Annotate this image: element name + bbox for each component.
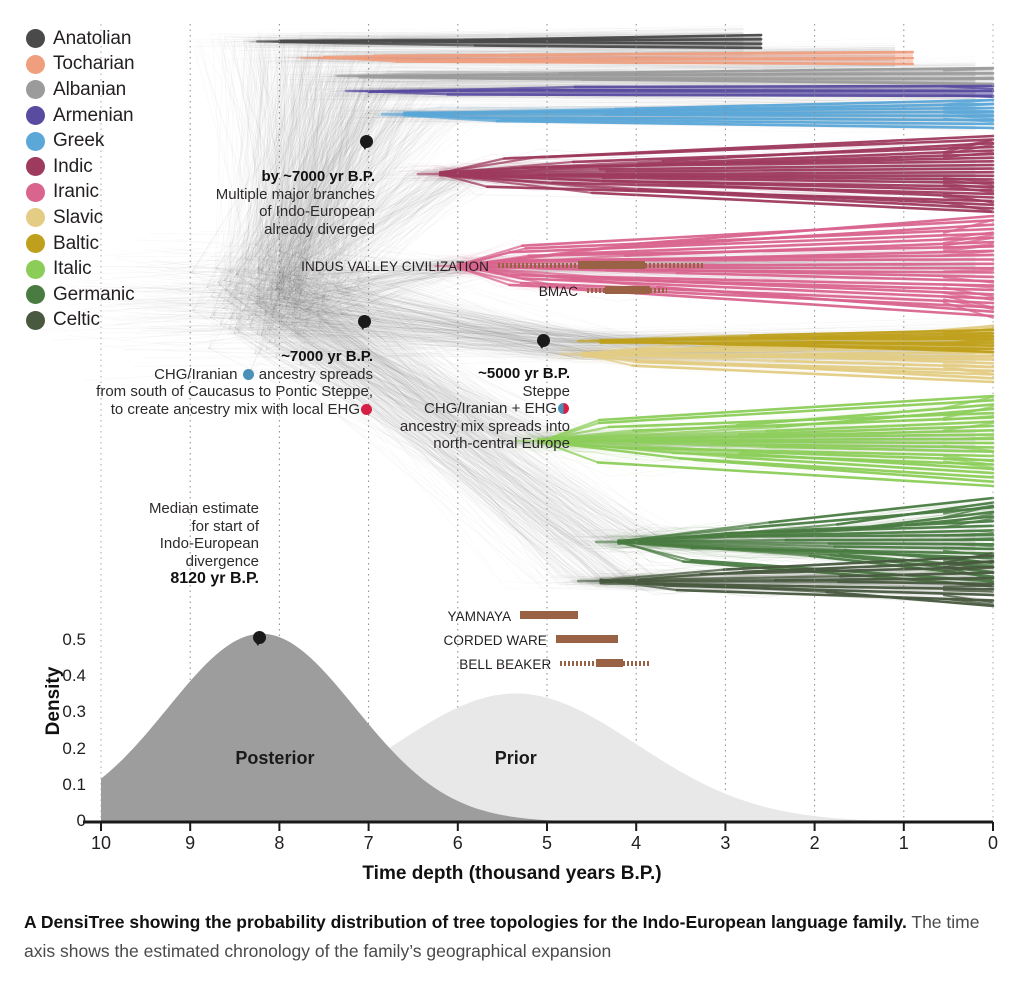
y-tick-label: 0.5 <box>40 630 86 650</box>
legend-item-baltic[interactable]: Baltic <box>26 231 196 257</box>
annotation-line: for start of <box>135 518 259 536</box>
culture-range-bar <box>520 611 578 621</box>
annotation-line: from south of Caucasus to Pontic Steppe, <box>60 383 373 401</box>
legend-label: Armenian <box>53 105 134 127</box>
legend-swatch-icon <box>26 80 45 99</box>
chg-ehg-split-dot-icon <box>558 403 569 414</box>
legend-swatch-icon <box>26 311 45 330</box>
legend-item-albanian[interactable]: Albanian <box>26 77 196 103</box>
legend-label: Albanian <box>53 79 126 101</box>
culture-label: BMAC <box>0 284 585 299</box>
legend-label: Tocharian <box>53 53 134 75</box>
legend-label: Indic <box>53 156 93 178</box>
x-tick-label: 6 <box>443 833 473 854</box>
annotation-line: Indo-European <box>135 535 259 553</box>
legend-swatch-icon <box>26 55 45 74</box>
culture-label: YAMNAYA <box>0 609 518 624</box>
x-axis-label: Time depth (thousand years B.P.) <box>0 863 1024 885</box>
legend-label: Iranic <box>53 181 99 203</box>
legend-item-iranic[interactable]: Iranic <box>26 180 196 206</box>
chg-iranian-dot-icon <box>243 369 254 380</box>
culture-bar-uncertain-early <box>498 263 578 268</box>
annotation-line: divergence <box>135 553 259 571</box>
y-tick-label: 0.2 <box>40 739 86 759</box>
annotation-median-estimate: Median estimate for start of Indo-Europe… <box>135 500 259 588</box>
legend-item-armenian[interactable]: Armenian <box>26 103 196 129</box>
culture-range-bar <box>587 286 667 296</box>
densitree-figure: AnatolianTocharianAlbanianArmenianGreekI… <box>0 0 1024 988</box>
ehg-label: to create ancestry mix with local EHG <box>111 401 360 418</box>
legend-item-anatolian[interactable]: Anatolian <box>26 26 196 52</box>
legend-swatch-icon <box>26 132 45 151</box>
figure-caption: A DensiTree showing the probability dist… <box>24 908 1008 966</box>
culture-bar-uncertain-late <box>650 288 668 293</box>
callout-dot-icon <box>360 135 373 148</box>
annotation-title: ~7000 yr B.P. <box>281 348 373 365</box>
x-tick-label: 5 <box>532 833 562 854</box>
legend-label: Anatolian <box>53 28 131 50</box>
annotation-line: CHG/Iranian + EHG <box>352 400 570 418</box>
annotation-line: Steppe <box>352 383 570 401</box>
x-tick-label: 3 <box>710 833 740 854</box>
annotation-line: of Indo-European <box>180 203 375 221</box>
legend-item-slavic[interactable]: Slavic <box>26 205 196 231</box>
y-tick-label: 0.1 <box>40 775 86 795</box>
legend-swatch-icon <box>26 29 45 48</box>
legend-item-tocharian[interactable]: Tocharian <box>26 52 196 78</box>
legend-swatch-icon <box>26 157 45 176</box>
legend-label: Slavic <box>53 207 103 229</box>
x-tick-label: 1 <box>889 833 919 854</box>
annotation-line: Median estimate <box>135 500 259 518</box>
legend-label: Greek <box>53 130 104 152</box>
legend-swatch-icon <box>26 208 45 227</box>
y-tick-label: 0.4 <box>40 666 86 686</box>
culture-bar-core <box>556 635 618 643</box>
culture-range-bar <box>556 635 618 645</box>
x-tick-label: 8 <box>264 833 294 854</box>
distribution-label-posterior: Posterior <box>235 748 315 769</box>
annotation-title: by ~7000 yr B.P. <box>261 168 375 185</box>
legend-item-indic[interactable]: Indic <box>26 154 196 180</box>
culture-bar-uncertain-late <box>623 661 650 666</box>
x-tick-label: 4 <box>621 833 651 854</box>
legend-swatch-icon <box>26 234 45 253</box>
annotation-title: ~5000 yr B.P. <box>478 365 570 382</box>
callout-dot-icon <box>537 334 550 347</box>
x-tick-label: 7 <box>354 833 384 854</box>
legend-swatch-icon <box>26 183 45 202</box>
legend-item-greek[interactable]: Greek <box>26 128 196 154</box>
culture-bar-uncertain-early <box>587 288 605 293</box>
x-tick-label: 0 <box>978 833 1008 854</box>
legend-item-celtic[interactable]: Celtic <box>26 308 196 334</box>
y-tick-label: 0 <box>40 811 86 831</box>
callout-dot-icon <box>358 315 371 328</box>
culture-range-bar <box>560 659 649 669</box>
x-tick-label: 10 <box>86 833 116 854</box>
annotation-7000-chg: ~7000 yr B.P. CHG/Iranian ancestry sprea… <box>60 348 373 418</box>
distribution-label-prior: Prior <box>476 748 556 769</box>
culture-bar-core <box>520 611 578 619</box>
annotation-line: CHG/Iranian ancestry spreads <box>60 366 373 384</box>
culture-range-bar <box>498 261 703 271</box>
culture-label: INDUS VALLEY CIVILIZATION <box>0 259 496 274</box>
annotation-line: north-central Europe <box>352 435 570 453</box>
annotation-line: to create ancestry mix with local EHG <box>60 401 373 419</box>
annotation-line: already diverged <box>180 221 375 239</box>
annotation-title: 8120 yr B.P. <box>170 570 259 587</box>
legend-swatch-icon <box>26 106 45 125</box>
caption-bold: A DensiTree showing the probability dist… <box>24 912 907 932</box>
culture-bar-core <box>605 286 650 294</box>
culture-bar-core <box>578 261 645 269</box>
x-tick-label: 9 <box>175 833 205 854</box>
annotation-line: Multiple major branches <box>180 186 375 204</box>
annotation-line: ancestry mix spreads into <box>352 418 570 436</box>
culture-bar-uncertain-late <box>645 263 703 268</box>
annotation-5000-steppe: ~5000 yr B.P. Steppe CHG/Iranian + EHG a… <box>352 365 570 453</box>
culture-bar-uncertain-early <box>560 661 596 666</box>
legend-label: Baltic <box>53 233 99 255</box>
chg-label: CHG/Iranian <box>154 366 242 383</box>
culture-bar-core <box>596 659 623 667</box>
y-tick-label: 0.3 <box>40 702 86 722</box>
legend-label: Celtic <box>53 309 100 331</box>
x-tick-label: 2 <box>800 833 830 854</box>
steppe-mix-label: CHG/Iranian + EHG <box>424 400 557 417</box>
annotation-7000-branches: by ~7000 yr B.P. Multiple major branches… <box>180 168 375 238</box>
